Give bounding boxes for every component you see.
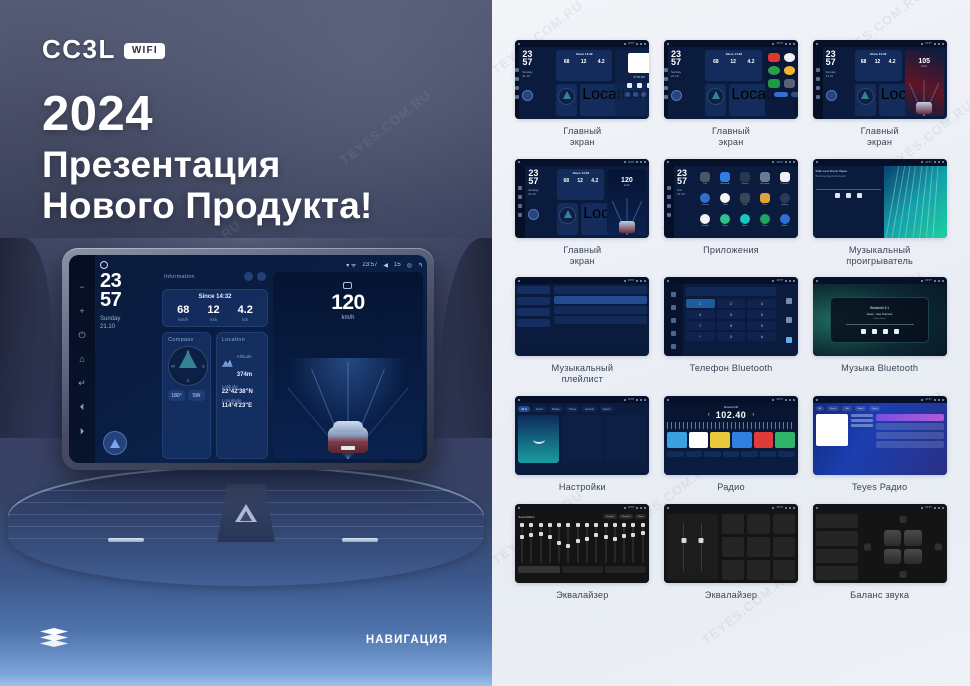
screenshot-image[interactable]: 23:57 Bluetooth 5.1 Feels · Like Summer … — [813, 277, 947, 356]
screenshot-image[interactable]: 23:57 2357Sunday21.10 Since 14:3268124.2… — [515, 40, 649, 119]
thumb-bluetooth-music[interactable]: 23:57 Bluetooth 5.1 Feels · Like Summer … — [809, 277, 950, 385]
thumb-caption: Эквалайзер — [556, 590, 608, 601]
wifi-icon: ▾ ᯤ — [346, 261, 356, 269]
home-screen-content: 23 57 Sunday 21.10 — [100, 272, 423, 459]
thumb-teyes-radio[interactable]: 23:57 AllMusicTalkNewsSport Teyes Радио — [809, 396, 950, 493]
screenshot-image[interactable]: 23:57 2357Sunday21.10 Since 14:3268124.2… — [515, 159, 649, 238]
radio-band-label: Moscow FM — [667, 406, 795, 409]
thumb-caption: Музыкальныйплейлист — [552, 363, 614, 385]
clock-day: Sunday — [100, 315, 157, 323]
hero-headline: 2024 Презентация Нового Продукта! — [42, 90, 462, 227]
location-card[interactable]: Location Altitude 374m — [216, 332, 268, 459]
volume-icon[interactable]: ◀ — [383, 262, 388, 269]
dialpad-key[interactable]: 3 — [747, 299, 776, 308]
balance-up-arrow — [899, 516, 906, 523]
thumb-home-screen-speed[interactable]: 23:57 2357Sunday21.10 Since 14:3268124.2… — [809, 40, 950, 148]
dialpad-key[interactable]: * — [686, 332, 715, 341]
clock-widget[interactable]: 23 57 Sunday 21.10 — [100, 272, 157, 459]
lower-widgets: Compass N S W E — [162, 332, 268, 459]
thumb-caption: Баланс звука — [850, 590, 909, 601]
screenshot-icon[interactable]: ◎ — [407, 262, 412, 269]
more-tile[interactable] — [606, 415, 647, 463]
head-unit-screen[interactable]: − + ⏻ ⌂ ↵ ⏴ ⏵ ▾ ᯤ 23:57 — [69, 255, 427, 463]
information-header: Information — [162, 272, 268, 284]
head-unit-bezel: − + ⏻ ⌂ ↵ ⏴ ⏵ ▾ ᯤ 23:57 — [62, 248, 434, 470]
thumb-caption: Главныйэкран — [563, 126, 601, 148]
dialpad-key[interactable]: 8 — [717, 321, 746, 330]
settings-tab[interactable]: Wi-Fi — [518, 406, 530, 412]
settings-tab[interactable]: Sound — [533, 406, 546, 412]
screenshot-image[interactable]: 23:57 — [813, 504, 947, 583]
dialpad-key[interactable]: 7 — [686, 321, 715, 330]
latitude-value: 22°42'38"N — [222, 389, 262, 395]
thumb-caption: Телефон Bluetooth — [690, 363, 773, 374]
product-logo: CC3L WIFI — [42, 34, 165, 65]
radio-presets[interactable] — [667, 432, 795, 448]
star-icon — [786, 298, 792, 304]
thumb-settings[interactable]: 23:57 Wi-Fi Sound Display Theme General … — [512, 396, 653, 493]
back-icon[interactable]: ↵ — [77, 378, 88, 389]
compass-direction-value: SW — [188, 390, 205, 401]
thumb-speed-value: 105 — [905, 58, 944, 65]
screenshot-image[interactable]: 23:57 2357Sunday21.10 Since 14:3268124.2… — [664, 40, 798, 119]
dialpad-key[interactable]: 0 — [717, 332, 746, 341]
clock-minutes: 57 — [100, 291, 157, 310]
contacts-icon — [786, 317, 792, 323]
screenshot-grid-panel: TEYES.COM.RU TEYES.COM.RU TEYES.COM.RU T… — [492, 0, 970, 686]
screenshot-image[interactable]: 23:57 Moscow FM ‹ 102.40 › — [664, 396, 798, 475]
thumb-home-screen-speed2[interactable]: 23:57 2357Sunday21.10 Since 14:3268124.2… — [512, 159, 653, 267]
thumb-caption: Музыкальныйпроигрыватель — [846, 245, 913, 267]
station-artwork — [816, 414, 848, 446]
thumb-bluetooth-phone[interactable]: 23:57 1 2 3 4 5 6 7 — [661, 277, 802, 385]
headline-line-1: Презентация — [42, 144, 462, 185]
widget-stack: Information Since 14:32 — [162, 272, 268, 459]
wifi-tile[interactable] — [518, 415, 559, 463]
thumb-equalizer-bands[interactable]: 23:57 Sound EffectCustomClassicalRock Эк… — [512, 504, 653, 601]
screenshot-image[interactable]: 23:57 1 2 3 4 5 6 7 — [664, 277, 798, 356]
plus-icon[interactable]: + — [77, 306, 88, 317]
navigation-arrow-icon — [110, 439, 120, 448]
settings-tab[interactable]: System — [600, 406, 614, 412]
radio-frequency: 102.40 — [716, 410, 747, 420]
play-pause-icon — [872, 329, 877, 334]
trip-stat: 4.2 km — [238, 304, 253, 322]
screenshot-image[interactable]: 23:57 23 57 Sun21.10 File Bluetooth Play… — [664, 159, 798, 238]
screenshot-image[interactable]: 23:57 Wi-Fi Sound Display Theme General … — [515, 396, 649, 475]
trip-stat-unit: km — [238, 317, 253, 322]
trip-since-label: Since 14:32 — [168, 294, 262, 300]
screenshot-image[interactable]: 23:57 Dark Love Demo Tapes Precious Ange… — [813, 159, 947, 238]
hd-icon — [343, 282, 352, 289]
settings-tab[interactable]: General — [582, 406, 597, 412]
dialpad-key[interactable]: 1 — [686, 299, 715, 308]
compass-e-label: E — [202, 364, 205, 369]
screenshot-image[interactable]: 23:57 2357Sunday21.10 Since 14:3268124.2… — [813, 40, 947, 119]
fader-controls[interactable] — [667, 514, 718, 580]
balance-right-arrow — [935, 544, 942, 551]
altitude-value: 374m — [237, 372, 252, 378]
screenshot-grid: 23:57 2357Sunday21.10 Since 14:3268124.2… — [492, 40, 970, 601]
presentation-page: TEYES.COM.RU TEYES.COM.RU TEYES.COM.RU C… — [0, 0, 970, 686]
vent-chrome-right — [342, 538, 378, 542]
stop-icon — [883, 329, 888, 334]
settings-tab[interactable]: Theme — [566, 406, 579, 412]
compass-s-label: S — [187, 378, 190, 383]
dialpad-keys[interactable]: 1 2 3 4 5 6 7 8 9 * 0 # — [686, 299, 777, 341]
vent-chrome-left — [108, 538, 144, 542]
thumb-music-playlist[interactable]: 23:57 Музыкальныйплейлист — [512, 277, 653, 385]
trip-info-card[interactable]: Since 14:32 68 km/h 12 — [162, 289, 268, 327]
balance-stage[interactable] — [862, 514, 944, 580]
thumb-caption: Настройки — [559, 482, 606, 493]
prev-track-icon[interactable]: ⏴ — [77, 402, 88, 413]
thumb-caption: Музыка Bluetooth — [841, 363, 918, 374]
app-grid[interactable]: File Bluetooth Playlist Calculator Camer… — [695, 169, 795, 235]
mountain-icon — [222, 359, 233, 367]
hero-footer: НАВИГАЦИЯ — [0, 606, 492, 686]
preset-buttons[interactable] — [722, 514, 795, 580]
thumb-caption: Teyes Радио — [852, 482, 907, 493]
head-unit-main-area: ▾ ᯤ 23:57 ◀ 15 ◎ ↰ 23 57 — [95, 255, 427, 463]
compass-heading-value: 180° — [168, 390, 185, 401]
thumb-caption: Главныйэкран — [861, 126, 899, 148]
dialpad-number-field[interactable] — [686, 287, 777, 296]
player-visualizer — [884, 166, 946, 238]
car-3d-model — [325, 419, 371, 453]
screenshot-image[interactable]: 23:57 — [664, 504, 798, 583]
thumb-equalizer-presets[interactable]: 23:57 Эквалайзер — [661, 504, 802, 601]
refresh-icon[interactable] — [257, 272, 266, 281]
home-icon[interactable] — [100, 261, 108, 269]
call-icon — [786, 337, 792, 343]
headline-line-2: Нового Продукта! — [42, 185, 462, 226]
thumb-applications[interactable]: 23:57 23 57 Sun21.10 File Bluetooth Play… — [661, 159, 802, 267]
thumb-music-player[interactable]: 23:57 Dark Love Demo Tapes Precious Ange… — [809, 159, 950, 267]
information-title: Information — [164, 274, 195, 280]
clock-date: 21.10 — [100, 323, 157, 331]
minus-icon[interactable]: − — [77, 282, 88, 293]
compass-dial: N S W E — [168, 346, 208, 386]
thumb-home-screen-apps[interactable]: 23:57 2357Sunday21.10 Since 14:3268124.2… — [661, 40, 802, 148]
trip-stat-unit: min — [207, 317, 219, 322]
settings-gear-icon[interactable] — [244, 272, 253, 281]
power-icon[interactable]: ⏻ — [77, 330, 88, 341]
player-track-title: Dark Love Demo Tapes — [816, 169, 882, 173]
logo-model-text: CC3L — [42, 34, 116, 65]
headline-year: 2024 — [42, 90, 462, 140]
status-volume: 15 — [394, 262, 401, 268]
next-icon — [894, 329, 899, 334]
home-left-column: 23 57 Sunday 21.10 — [100, 272, 268, 459]
hero-panel: TEYES.COM.RU TEYES.COM.RU TEYES.COM.RU C… — [0, 0, 492, 686]
thumb-caption: Приложения — [703, 245, 759, 256]
trip-stat-value: 68 — [177, 304, 189, 316]
speed-road-widget[interactable]: 120 km/h — [273, 272, 423, 459]
dialpad-key[interactable]: # — [747, 332, 776, 341]
balance-left-arrow — [864, 544, 871, 551]
location-title: Location — [222, 337, 262, 343]
balance-down-arrow — [899, 571, 906, 578]
trip-stat-value: 12 — [207, 304, 219, 316]
longitude-value: 114°4'23"E — [222, 403, 262, 409]
wifi-icon — [533, 435, 545, 444]
radio-prev-icon[interactable]: ‹ — [708, 412, 710, 418]
thumb-caption: Главныйэкран — [563, 245, 601, 267]
speed-value: 120 — [273, 292, 423, 313]
bt-track-title: Feels · Like Summer — [867, 312, 893, 316]
bt-track-artist: Calvin Harris — [873, 318, 886, 320]
compass-title: Compass — [168, 337, 205, 343]
trip-stat-value: 4.2 — [238, 304, 253, 316]
thumb-sound-balance[interactable]: 23:57 Баланс звука — [809, 504, 950, 601]
home-icon[interactable]: ⌂ — [77, 354, 88, 365]
head-unit-side-rail[interactable]: − + ⏻ ⌂ ↵ ⏴ ⏵ — [69, 255, 95, 463]
prev-icon — [861, 329, 866, 334]
thumb-caption: Эквалайзер — [705, 590, 757, 601]
dialpad-key[interactable]: 5 — [717, 310, 746, 319]
trip-stat: 12 min — [207, 304, 219, 322]
dialpad-key[interactable]: 2 — [717, 299, 746, 308]
trip-stat-unit: km/h — [177, 317, 189, 322]
compass-card[interactable]: Compass N S W E — [162, 332, 211, 459]
thumb-caption: Главныйэкран — [712, 126, 750, 148]
next-track-icon[interactable]: ⏵ — [77, 426, 88, 437]
status-bar: ▾ ᯤ 23:57 ◀ 15 ◎ ↰ — [100, 258, 423, 272]
radio-next-icon[interactable]: › — [752, 412, 754, 418]
layers-icon — [40, 628, 70, 650]
logo-wifi-badge: WIFI — [124, 43, 165, 59]
altitude-label: Altitude — [237, 354, 252, 359]
navigation-label: НАВИГАЦИЯ — [366, 634, 448, 646]
settings-tab[interactable]: Display — [549, 406, 563, 412]
thumb-home-screen-media[interactable]: 23:57 2357Sunday21.10 Since 14:3268124.2… — [512, 40, 653, 148]
compass-w-label: W — [171, 364, 175, 369]
dialpad-key[interactable]: 9 — [747, 321, 776, 330]
compass-n-label: N — [187, 349, 190, 354]
status-time: 23:57 — [362, 262, 377, 268]
navigation-fab-button[interactable] — [103, 431, 127, 455]
dialpad-key[interactable]: 4 — [686, 310, 715, 319]
settings-tabs[interactable]: Wi-Fi Sound Display Theme General System — [518, 406, 646, 412]
radio-tuning-scale[interactable] — [667, 422, 795, 429]
screenshot-image[interactable]: 23:57 AllMusicTalkNewsSport — [813, 396, 947, 475]
thumb-speed-value: 120 — [607, 177, 646, 184]
screenshot-image[interactable]: 23:57 Sound EffectCustomClassicalRock — [515, 504, 649, 583]
thumb-caption: Радио — [717, 482, 745, 493]
screenshot-image[interactable]: 23:57 — [515, 277, 649, 356]
speed-unit: km/h — [273, 315, 423, 321]
dialpad-key[interactable]: 6 — [747, 310, 776, 319]
bluetooth-version-label: Bluetooth 5.1 — [870, 306, 889, 310]
trip-stat: 68 km/h — [177, 304, 189, 322]
hazard-triangle-icon — [235, 504, 257, 522]
hotspot-tile[interactable] — [562, 415, 603, 463]
speed-readout: 120 km/h — [273, 282, 423, 321]
thumb-radio[interactable]: 23:57 Moscow FM ‹ 102.40 › — [661, 396, 802, 493]
equalizer-sliders[interactable] — [518, 523, 646, 563]
back-arrow-icon[interactable]: ↰ — [418, 262, 423, 269]
